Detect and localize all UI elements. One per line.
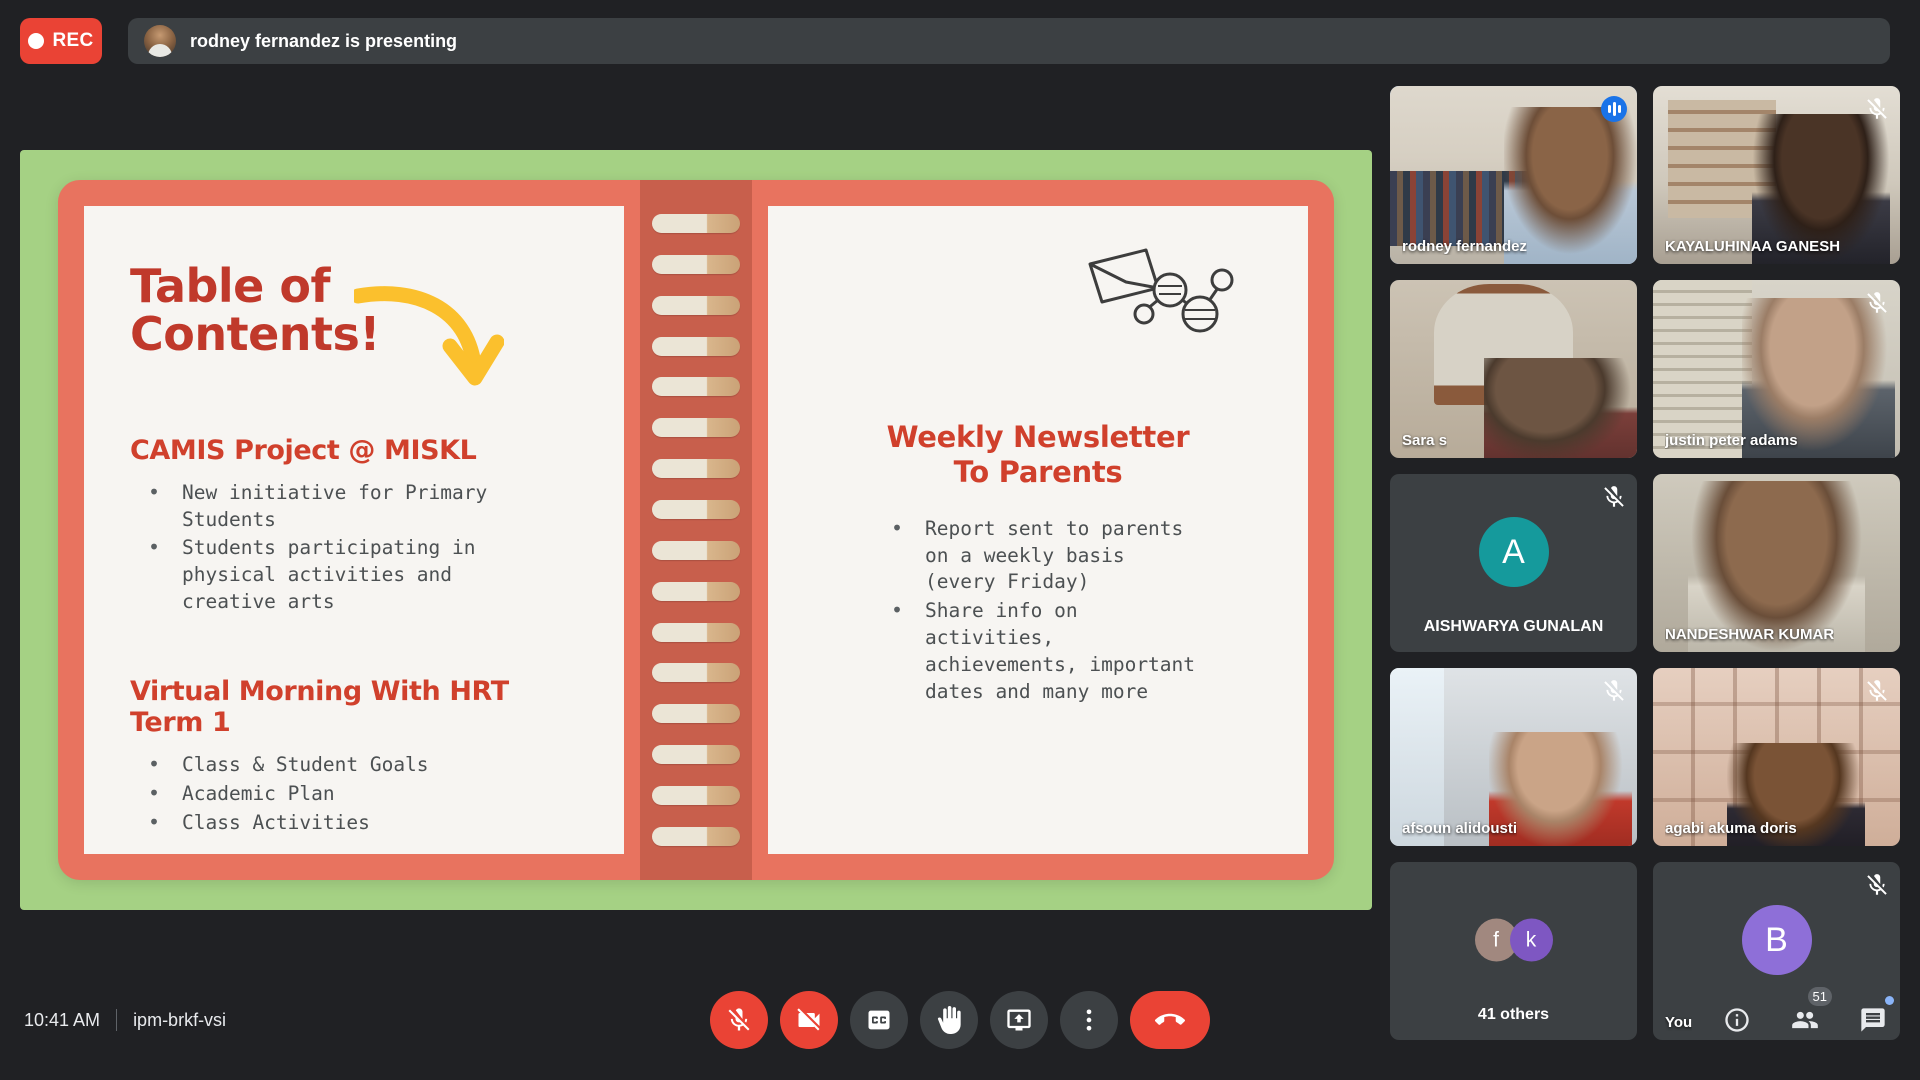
list-item: Academic Plan — [130, 781, 530, 808]
end-call-icon — [1155, 1005, 1185, 1035]
call-controls — [710, 991, 1210, 1049]
participant-row: rodney fernandez KAYALUHINAA GANESH — [1390, 86, 1900, 264]
microphone-off-icon — [1864, 872, 1890, 898]
participant-tile-rodney-fernandez[interactable]: rodney fernandez — [1390, 86, 1637, 264]
microphone-off-icon — [1864, 96, 1890, 122]
list-item: Students participating in physical activ… — [130, 535, 530, 616]
closed-captions-icon — [865, 1006, 893, 1034]
participant-tile-kayaluhinaa-ganesh[interactable]: KAYALUHINAA GANESH — [1653, 86, 1900, 264]
presenting-banner[interactable]: rodney fernandez is presenting — [128, 18, 1890, 64]
participant-name: justin peter adams — [1665, 432, 1798, 449]
participant-row: Sara s justin peter adams — [1390, 280, 1900, 458]
envelope-network-icon — [1084, 244, 1244, 334]
more-options-button[interactable] — [1060, 991, 1118, 1049]
camera-toggle-button[interactable] — [780, 991, 838, 1049]
speaking-indicator-icon — [1601, 96, 1627, 122]
people-icon — [1791, 1006, 1819, 1034]
participant-name: Sara s — [1402, 432, 1447, 449]
participant-name: NANDESHWAR KUMAR — [1665, 626, 1834, 643]
bottom-control-bar: 10:41 AM ipm-brkf-vsi 5 — [0, 960, 1920, 1080]
participant-row: afsoun alidousti agabi akuma doris — [1390, 668, 1900, 846]
section-bullets-virtual-morning: Class & Student Goals Academic Plan Clas… — [130, 752, 578, 837]
participant-name: agabi akuma doris — [1665, 820, 1797, 837]
divider — [116, 1009, 117, 1031]
more-options-icon — [1075, 1006, 1103, 1034]
raise-hand-icon — [935, 1006, 963, 1034]
camera-off-icon — [795, 1006, 823, 1034]
meeting-info: 10:41 AM ipm-brkf-vsi — [24, 1009, 226, 1031]
present-screen-button[interactable] — [990, 991, 1048, 1049]
notebook-left-page: Table ofContents! CAMIS Project @ MISKL … — [84, 206, 624, 854]
participant-tile-agabi-akuma-doris[interactable]: agabi akuma doris — [1653, 668, 1900, 846]
section-heading-newsletter: Weekly Newsletter To Parents — [883, 420, 1193, 490]
end-call-button[interactable] — [1130, 991, 1210, 1049]
participant-tile-justin-peter-adams[interactable]: justin peter adams — [1653, 280, 1900, 458]
presenter-avatar — [144, 25, 176, 57]
participant-tile-afsoun-alidousti[interactable]: afsoun alidousti — [1390, 668, 1637, 846]
raise-hand-button[interactable] — [920, 991, 978, 1049]
captions-toggle-button[interactable] — [850, 991, 908, 1049]
microphone-toggle-button[interactable] — [710, 991, 768, 1049]
participant-count-badge: 51 — [1808, 987, 1832, 1006]
chat-button[interactable] — [1852, 999, 1894, 1041]
recording-badge[interactable]: REC — [20, 18, 102, 64]
list-item: Class Activities — [130, 810, 530, 837]
microphone-off-icon — [1601, 678, 1627, 704]
microphone-off-icon — [1864, 290, 1890, 316]
presentation-stage[interactable]: Table ofContents! CAMIS Project @ MISKL … — [20, 150, 1372, 910]
record-dot-icon — [28, 33, 44, 49]
notebook-right-page: Weekly Newsletter To Parents Report sent… — [768, 206, 1308, 854]
avatar: k — [1510, 919, 1553, 962]
recording-label: REC — [52, 30, 93, 52]
others-avatar-stack: f k — [1475, 919, 1553, 962]
participant-name: afsoun alidousti — [1402, 820, 1517, 837]
chat-icon — [1859, 1006, 1887, 1034]
meeting-details-button[interactable] — [1716, 999, 1758, 1041]
microphone-off-icon — [1864, 678, 1890, 704]
list-item: Report sent to parents on a weekly basis… — [873, 516, 1203, 597]
list-item: Share info on activities, achievements, … — [873, 598, 1203, 706]
chat-unread-dot — [1885, 996, 1894, 1005]
participant-name: KAYALUHINAA GANESH — [1665, 238, 1840, 255]
presenting-label: rodney fernandez is presenting — [190, 31, 457, 52]
microphone-off-icon — [1601, 484, 1627, 510]
participant-tile-nandeshwar-kumar[interactable]: NANDESHWAR KUMAR — [1653, 474, 1900, 652]
list-item: Class & Student Goals — [130, 752, 530, 779]
notebook-spiral-binding — [621, 214, 771, 846]
section-bullets-camis: New initiative for Primary Students Stud… — [130, 480, 578, 617]
list-item: New initiative for Primary Students — [130, 480, 530, 534]
top-bar: REC rodney fernandez is presenting — [0, 0, 1920, 90]
present-screen-icon — [1005, 1006, 1033, 1034]
info-icon — [1723, 1006, 1751, 1034]
section-heading-virtual-morning: Virtual Morning With HRT Term 1 — [130, 676, 578, 738]
participant-grid: rodney fernandez KAYALUHINAA GANESH Sara… — [1390, 86, 1900, 1056]
participant-tile-aishwarya-gunalan[interactable]: A AISHWARYA GUNALAN — [1390, 474, 1637, 652]
microphone-off-icon — [725, 1006, 753, 1034]
participant-row: A AISHWARYA GUNALAN NANDESHWAR KUMAR — [1390, 474, 1900, 652]
right-controls: 51 — [1716, 999, 1894, 1041]
participant-tile-sara-s[interactable]: Sara s — [1390, 280, 1637, 458]
notebook-graphic: Table ofContents! CAMIS Project @ MISKL … — [58, 180, 1334, 880]
curved-arrow-icon — [354, 280, 504, 410]
participant-name: rodney fernandez — [1402, 238, 1527, 255]
show-everyone-button[interactable]: 51 — [1784, 999, 1826, 1041]
avatar: A — [1479, 517, 1549, 587]
section-heading-camis: CAMIS Project @ MISKL — [130, 435, 578, 466]
section-bullets-newsletter: Report sent to parents on a weekly basis… — [873, 516, 1203, 706]
meeting-code: ipm-brkf-vsi — [133, 1010, 226, 1031]
participant-name: AISHWARYA GUNALAN — [1390, 618, 1637, 636]
current-time: 10:41 AM — [24, 1010, 100, 1031]
